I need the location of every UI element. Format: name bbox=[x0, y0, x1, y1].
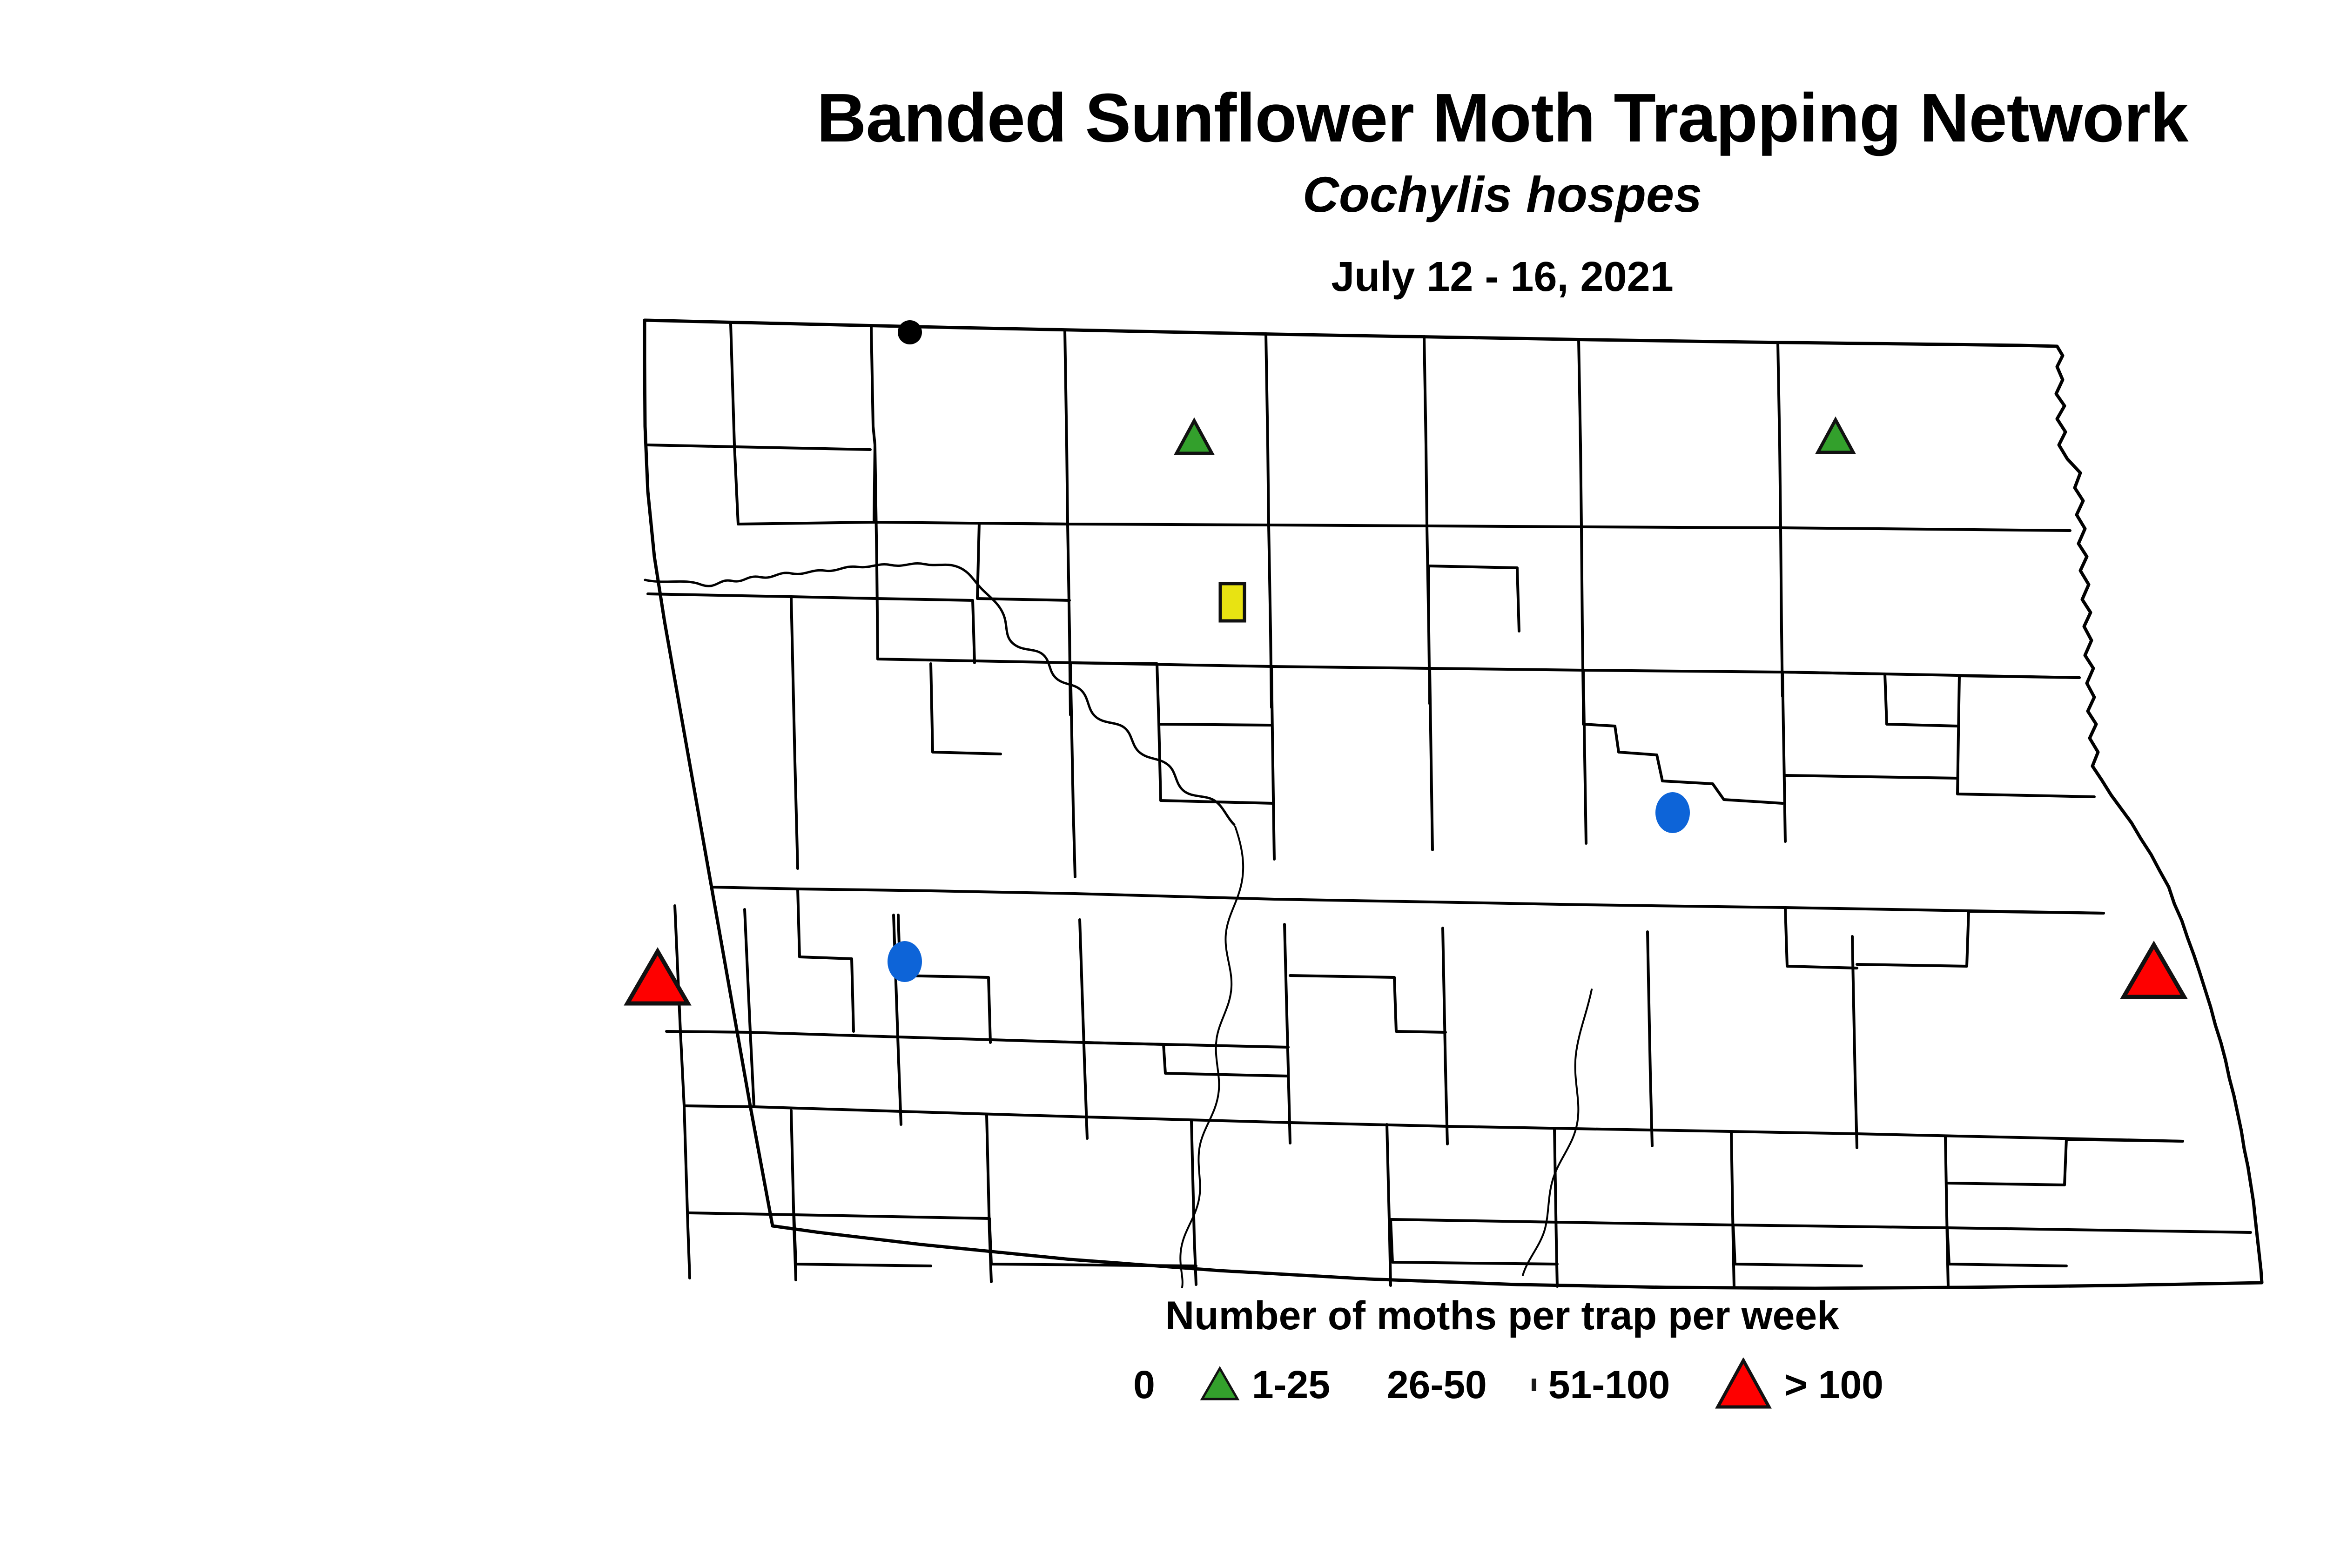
county-jog-nelson-walsh bbox=[1785, 775, 1957, 778]
county-jog-renville-step bbox=[977, 523, 1069, 600]
red-triangle-marker-icon bbox=[1715, 1358, 1772, 1412]
north-dakota-county-map bbox=[0, 305, 2327, 1311]
map-marker-trap-4[interactable] bbox=[1220, 584, 1244, 621]
county-jog-mountrail-step bbox=[877, 599, 975, 663]
missouri-river-lake-sakakawea bbox=[645, 563, 1234, 825]
page-title: Banded Sunflower Moth Trapping Network bbox=[817, 84, 2188, 153]
county-jog-sioux-step bbox=[989, 1218, 1196, 1266]
county-jog-dunn-step bbox=[798, 889, 854, 1031]
county-jog-sheridan bbox=[1159, 724, 1273, 803]
county-jog-sargent bbox=[1947, 1228, 2066, 1266]
legend-label-0: 0 bbox=[1133, 1362, 1155, 1407]
county-border-tier3-bottom bbox=[712, 887, 2104, 913]
county-border-bottineau-rolette bbox=[1266, 334, 1269, 525]
legend-label-51-100: 51-100 bbox=[1548, 1362, 1670, 1407]
map-county-borders bbox=[645, 320, 2262, 1288]
county-border-tier5-mid-east bbox=[1392, 1219, 2251, 1232]
county-border-tier2-bottom bbox=[878, 659, 2079, 678]
county-border-renville-bottineau bbox=[1065, 330, 1068, 524]
poster-root: Banded Sunflower Moth Trapping Network C… bbox=[0, 0, 2327, 1568]
county-border-sheridan-wells bbox=[1271, 666, 1274, 859]
county-jog-adams bbox=[794, 1215, 931, 1266]
county-border-wells-eddy bbox=[1430, 668, 1433, 850]
map-marker-trap-5[interactable] bbox=[1655, 792, 1690, 833]
county-jog-dickey bbox=[1733, 1225, 1862, 1266]
county-border-logan-emmons bbox=[1387, 1124, 1391, 1285]
county-border-slope-bowman bbox=[684, 1106, 690, 1278]
legend-label-1-25: 1-25 bbox=[1252, 1362, 1330, 1407]
county-border-morton-burleigh bbox=[1080, 920, 1087, 1138]
county-jog-mclean-north bbox=[931, 664, 1001, 754]
map-marker-trap-8[interactable] bbox=[2124, 945, 2184, 997]
county-jog-burleigh-step bbox=[1290, 976, 1446, 1032]
county-border-tier2-bottom-west bbox=[648, 594, 877, 599]
county-border-mckenzie-dunn bbox=[791, 597, 798, 868]
county-jog-benson-devils-lake bbox=[1583, 670, 1782, 803]
state-outline bbox=[645, 320, 2262, 1288]
county-jog-cass-south bbox=[1948, 1139, 2183, 1185]
legend-item-1-25[interactable]: 1-25 bbox=[1200, 1362, 1330, 1407]
county-border-divide-burke bbox=[731, 324, 738, 524]
county-jog-pierce-rugby bbox=[1429, 566, 1519, 631]
county-jog-mcintosh bbox=[1391, 1219, 1557, 1264]
county-jog-grand-forks bbox=[1957, 676, 2094, 797]
map-marker-trap-3[interactable] bbox=[1818, 420, 1853, 452]
legend-item-51-100[interactable]: 51-100 bbox=[1532, 1362, 1670, 1407]
legend: 0 1-25 26-50 51-100 bbox=[1099, 1358, 1906, 1412]
legend-item-26-50[interactable]: 26-50 bbox=[1375, 1362, 1487, 1407]
county-border-tier5-mid bbox=[689, 1213, 989, 1218]
county-jog-steele-griggs bbox=[1785, 908, 1857, 968]
map-marker-trap-6[interactable] bbox=[888, 941, 922, 982]
county-border-rolette-towner bbox=[1424, 336, 1427, 526]
county-border-mclean-east bbox=[1070, 663, 1075, 877]
county-border-towner-cavalier bbox=[1579, 339, 1581, 527]
county-border-stutsman-barnes bbox=[1648, 932, 1652, 1146]
county-border-williams-east bbox=[875, 445, 878, 659]
date-range-label: July 12 - 16, 2021 bbox=[1331, 256, 1674, 298]
map-marker-trap-1[interactable] bbox=[898, 320, 922, 344]
county-border-cavalier-pembina bbox=[1778, 343, 1781, 528]
map-marker-trap-2[interactable] bbox=[1177, 421, 1212, 453]
yellow-square-marker-icon bbox=[1532, 1381, 1536, 1389]
county-border-kidder-stutsman bbox=[1443, 928, 1447, 1144]
legend-label-26-50: 26-50 bbox=[1387, 1362, 1487, 1407]
county-border-tier1-bottom bbox=[738, 522, 2070, 531]
legend-label-over-100: > 100 bbox=[1784, 1362, 1883, 1407]
map-container bbox=[0, 305, 2327, 1311]
county-border-burleigh-kidder bbox=[1285, 924, 1290, 1143]
green-triangle-marker-icon bbox=[1200, 1366, 1240, 1404]
species-subtitle: Cochylis hospes bbox=[1303, 169, 1702, 220]
legend-item-over-100[interactable]: > 100 bbox=[1715, 1358, 1883, 1412]
county-border-tier4-mid bbox=[666, 1031, 1288, 1047]
county-border-tier4-bottom bbox=[684, 1106, 2183, 1141]
county-border-foster-griggs bbox=[1782, 672, 1785, 841]
county-jog-traill-step bbox=[1857, 911, 2104, 966]
county-jog-ward-south bbox=[1070, 663, 1271, 725]
county-jog-ramsey-step bbox=[1782, 672, 1957, 726]
county-border-golden-valley-billings bbox=[675, 906, 684, 1106]
county-border-emmons-west bbox=[1191, 1121, 1196, 1285]
legend-item-0[interactable]: 0 bbox=[1121, 1362, 1155, 1407]
county-border-north-tier-south bbox=[648, 445, 870, 450]
